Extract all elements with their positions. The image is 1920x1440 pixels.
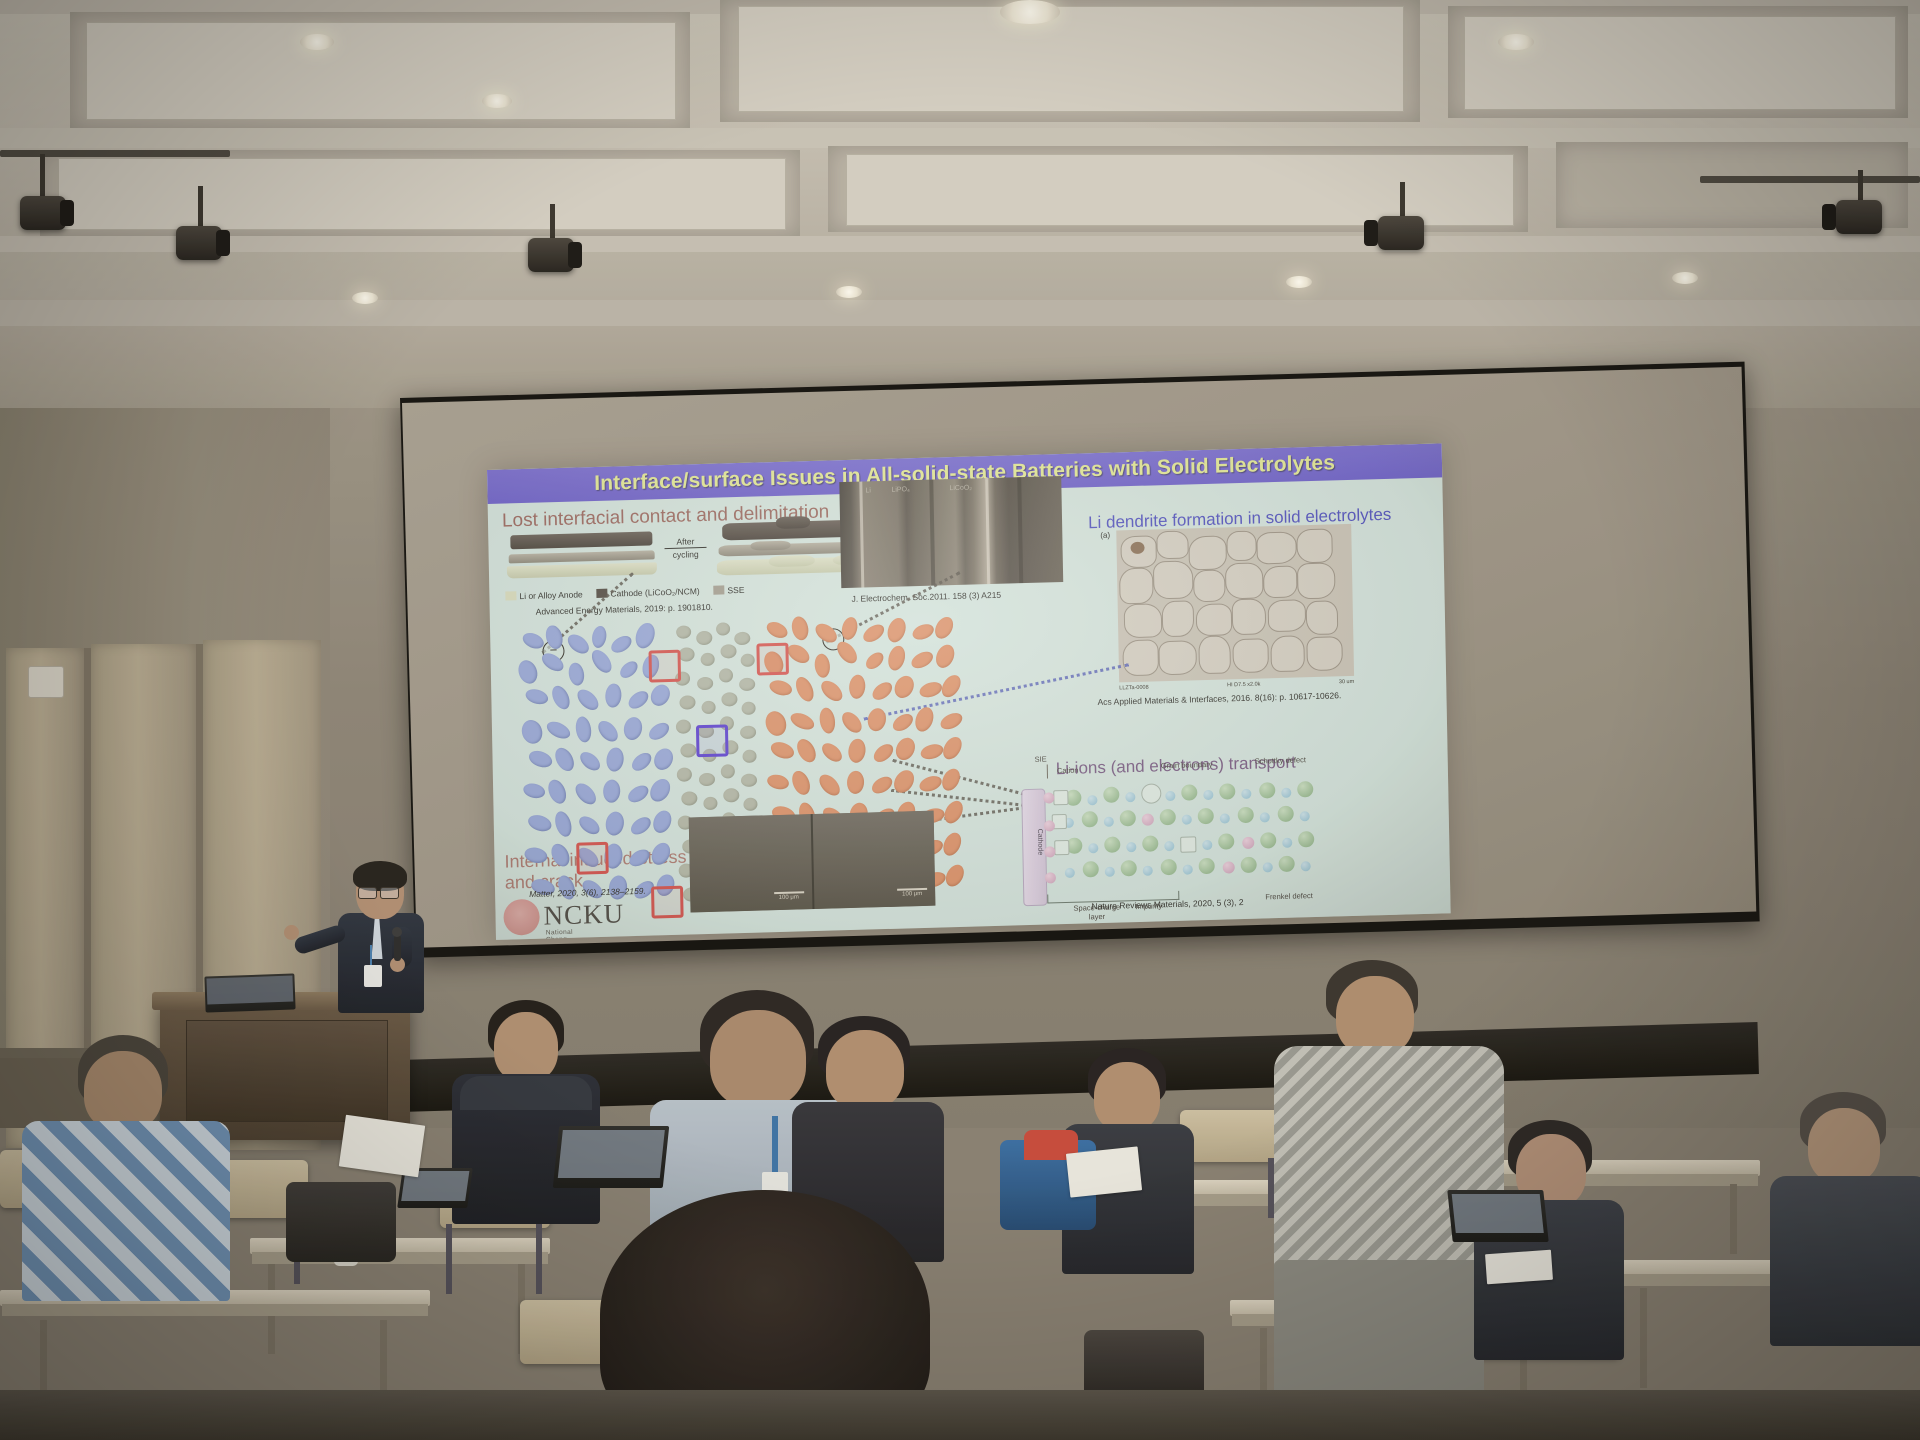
wall-switch-plate[interactable] <box>28 666 64 698</box>
ceiling-downlight <box>1498 34 1534 50</box>
stack-before-cycling <box>506 531 657 583</box>
sem-label-licoo2: LiCoO₂ <box>949 484 972 492</box>
shoulder-bag <box>286 1182 396 1262</box>
panel-label-a: (a) <box>1100 531 1110 540</box>
ceiling-downlight <box>300 34 334 50</box>
legend-label-anode: Li or Alloy Anode <box>519 589 582 601</box>
presenter-badge <box>364 965 382 987</box>
sem-label-li: Li <box>865 487 871 494</box>
sem-id: LLZTa-0008 <box>1119 685 1148 692</box>
citation-acs: Acs Applied Materials & Interfaces, 2016… <box>1097 690 1341 707</box>
sem-cross-section-image: Li LiPO₄ LiCoO₂ <box>839 476 1063 588</box>
sie-label: SIE <box>1035 754 1047 763</box>
citation-jes: J. Electrochem. Soc.2011. 158 (3) A215 <box>851 590 1001 604</box>
ceiling-downlight <box>1286 276 1312 288</box>
presenter-pointing-hand <box>284 925 299 940</box>
defect-highlight-box <box>651 886 684 919</box>
photo-scene: Interface/surface Issues in All-solid-st… <box>0 0 1920 1440</box>
ceiling-downlight <box>482 94 512 108</box>
cathode-label: Cathode <box>1023 829 1044 856</box>
schottky-label: Schottky defect <box>1255 755 1306 765</box>
glasses-right-lens <box>380 887 399 899</box>
after-label: After <box>664 536 706 547</box>
sem-label-lipo4: LiPO₄ <box>891 486 910 494</box>
legend-swatch-sse <box>713 585 724 594</box>
crack-sem-image: 100 μm 100 μm <box>689 811 936 913</box>
ceiling-downlight <box>1672 272 1698 284</box>
sem-scale: 30 um <box>1339 679 1354 685</box>
podium-front-panel <box>186 1020 388 1122</box>
microphone-head <box>392 927 402 937</box>
scale-bar-left: 100 μm <box>774 891 804 901</box>
handout-paper[interactable] <box>339 1115 425 1178</box>
scale-bar-right: 100 μm <box>897 888 927 898</box>
ceiling <box>0 0 1920 420</box>
presentation-slide: Interface/surface Issues in All-solid-st… <box>487 443 1451 940</box>
defect-highlight-box <box>648 650 681 683</box>
handout-paper[interactable] <box>1485 1250 1553 1285</box>
cycling-label: cycling <box>665 549 707 560</box>
citation-aem: Advanced Energy Materials, 2019: p. 1901… <box>536 602 713 617</box>
presenter <box>320 865 440 1010</box>
microphone <box>394 935 401 961</box>
ncku-logo-mark <box>503 899 540 936</box>
dendrite-micrograph <box>1116 524 1354 683</box>
audience-laptop[interactable] <box>1447 1190 1548 1242</box>
frenkel-label: Frenkel defect <box>1265 891 1313 901</box>
legend-swatch-anode <box>505 591 516 600</box>
stack-legend: Li or Alloy Anode Cathode (LiCoO₂/NCM) S… <box>505 585 744 602</box>
handout-paper[interactable] <box>1066 1146 1142 1197</box>
cation-label: Cation <box>1057 766 1079 776</box>
grain-boundary-label: Grain boundary <box>1161 760 1213 770</box>
after-cycling-label: After cycling <box>664 536 706 560</box>
legend-label-sse: SSE <box>727 585 744 595</box>
defect-highlight-box-violet <box>696 724 729 757</box>
legend-label-cathode: Cathode (LiCoO₂/NCM) <box>610 586 699 598</box>
ceiling-downlight <box>836 286 862 298</box>
crack-sem-right: 100 μm <box>810 811 935 909</box>
sem-params: HI D7.5 x2.0k <box>1227 681 1260 688</box>
glasses-left-lens <box>358 887 377 899</box>
ceiling-downlight <box>352 292 378 304</box>
crack-sem-left: 100 μm <box>689 814 812 912</box>
podium-laptop <box>204 973 295 1012</box>
defect-highlight-box <box>756 643 789 676</box>
defect-highlight-box <box>576 842 609 875</box>
audience-laptop[interactable] <box>553 1126 670 1188</box>
ncku-acronym: NCKU <box>543 898 624 931</box>
ceiling-downlight <box>1000 0 1060 24</box>
